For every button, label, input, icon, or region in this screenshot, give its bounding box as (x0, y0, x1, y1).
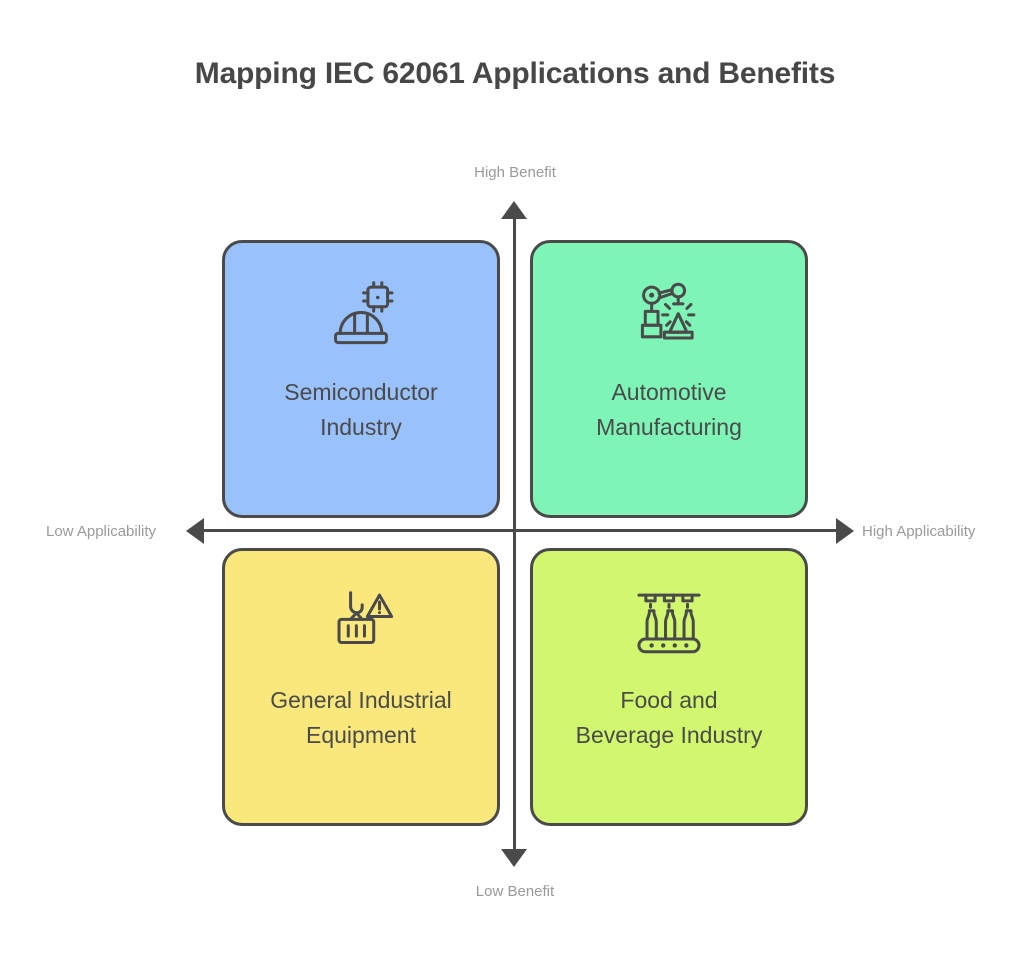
page-title: Mapping IEC 62061 Applications and Benef… (0, 57, 1030, 91)
applicability-axis-line (193, 529, 838, 532)
axis-label-high-benefit: High Benefit (0, 164, 1030, 181)
hard-hat-microchip-icon (324, 279, 398, 353)
quadrant-diagram-canvas: Mapping IEC 62061 Applications and Benef… (0, 0, 1030, 979)
quadrant-card-food-beverage[interactable]: Food and Beverage Industry (530, 548, 808, 826)
bottling-conveyor-icon (632, 587, 706, 661)
quadrant-label-general-industrial: General Industrial Equipment (256, 683, 466, 752)
axis-label-low-applicability: Low Applicability (46, 523, 156, 540)
quadrant-label-food-beverage: Food and Beverage Industry (562, 683, 777, 752)
welding-robot-arm-icon (632, 279, 706, 353)
crane-hook-container-warning-icon (324, 587, 398, 661)
arrow-left-icon (186, 518, 204, 544)
quadrant-label-semiconductor: Semiconductor Industry (270, 375, 451, 444)
axis-label-high-applicability: High Applicability (862, 523, 975, 540)
arrow-right-icon (836, 518, 854, 544)
quadrant-card-general-industrial[interactable]: General Industrial Equipment (222, 548, 500, 826)
quadrant-label-automotive: Automotive Manufacturing (582, 375, 756, 444)
quadrant-card-semiconductor[interactable]: Semiconductor Industry (222, 240, 500, 518)
arrow-down-icon (501, 849, 527, 867)
axis-label-low-benefit: Low Benefit (0, 883, 1030, 900)
arrow-up-icon (501, 201, 527, 219)
benefit-axis-line (513, 212, 516, 857)
quadrant-card-automotive[interactable]: Automotive Manufacturing (530, 240, 808, 518)
